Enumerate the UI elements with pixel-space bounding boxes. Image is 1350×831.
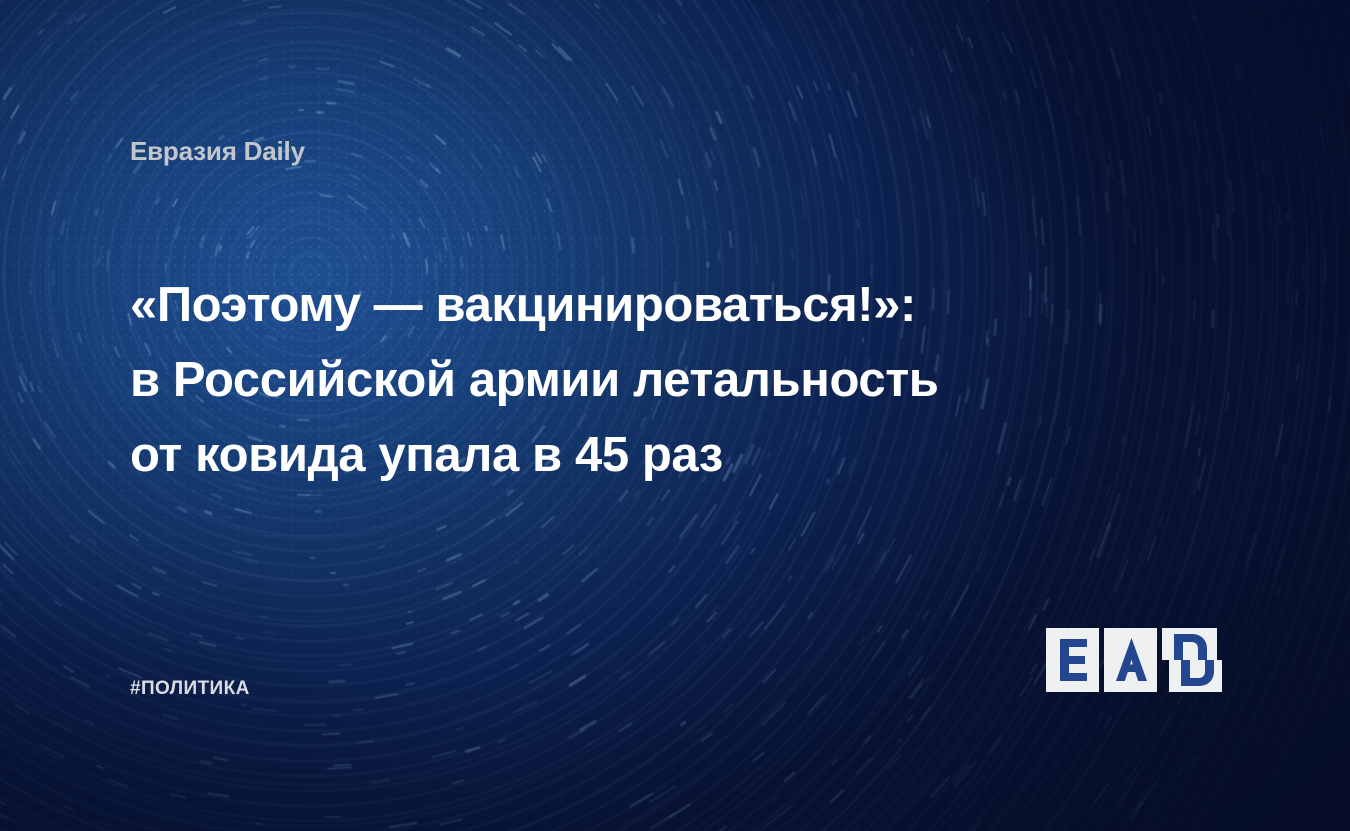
headline-line-3: от ковида упала в 45 раз (130, 418, 1080, 493)
headline-line-1: «Поэтому — вакцинироваться!»: (130, 268, 1080, 343)
headline: «Поэтому — вакцинироваться!»: в Российск… (130, 268, 1080, 493)
logo-tile-d-lower (1169, 660, 1222, 692)
brand-name[interactable]: Евразия Daily (130, 136, 305, 167)
logo-tile-e (1046, 628, 1099, 692)
logo-tile-a (1104, 628, 1157, 692)
category-tag[interactable]: #ПОЛИТИКА (130, 678, 250, 700)
news-share-card: Евразия Daily «Поэтому — вакцинироваться… (0, 0, 1350, 831)
headline-line-2: в Российской армии летальность (130, 343, 1080, 418)
logo-tile-d (1162, 628, 1222, 692)
ead-logo[interactable] (1046, 628, 1222, 692)
logo-tile-d-upper (1162, 628, 1217, 660)
card-content: Евразия Daily «Поэтому — вакцинироваться… (0, 0, 1350, 831)
